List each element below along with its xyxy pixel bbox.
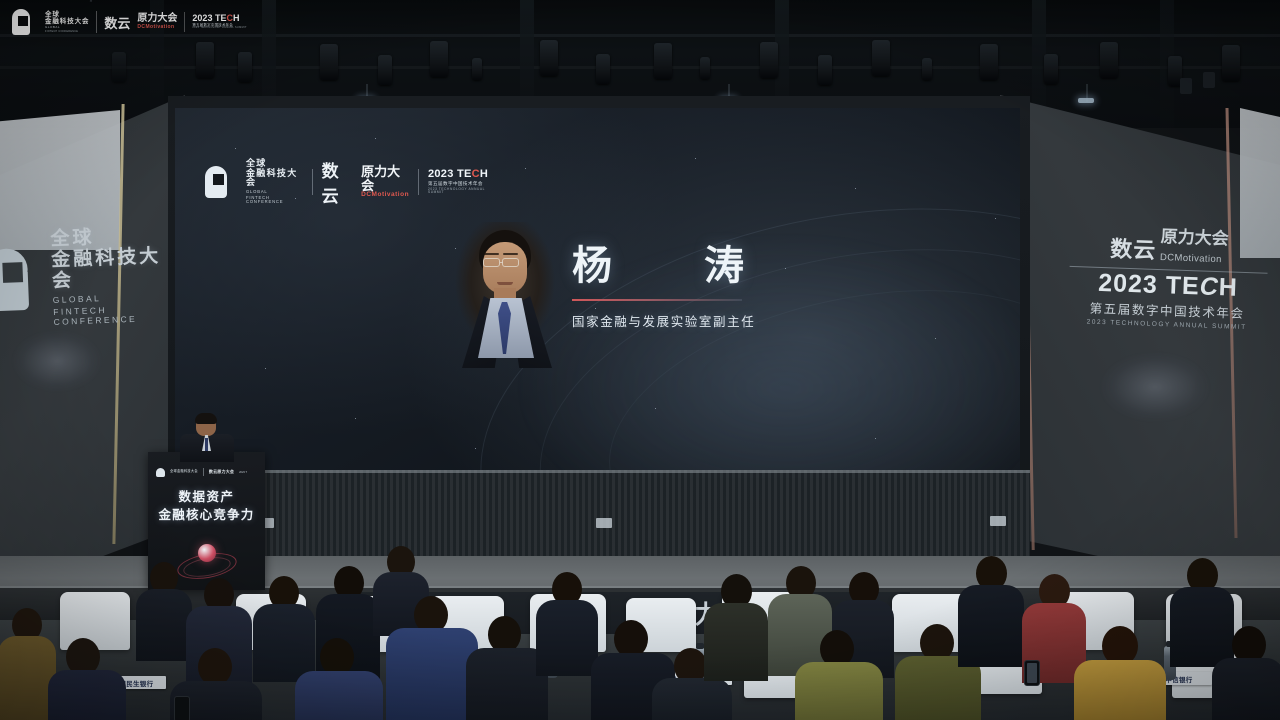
fintech-conference-logo-icon [156,468,165,477]
broadcast-channel-bug: 全球 金融科技大会 GLOBAL FINTECH CONFERENCE 数云 原… [12,6,247,38]
left-wall-branding: 全球 金融科技大会 GLOBAL FINTECH CONFERENCE [0,221,178,332]
led-logo-bar: 全球 金融科技大会 GLOBAL FINTECH CONFERENCE 数云 原… [205,163,495,201]
conference-stage-photo: 全球 金融科技大会 GLOBAL FINTECH CONFERENCE 数云 原… [0,0,1280,720]
nameplate-rule [572,299,742,301]
right-wall-title-en: DCMotivation [1160,252,1222,265]
stage-spotlight [654,43,672,79]
stage-spotlight [700,57,710,79]
led-year-tech: 2023 TECH [428,169,495,181]
fintech-conference-logo-icon [205,166,237,198]
podium-logo-label: 全球金融科技大会 [170,470,198,474]
bug-summit-title-en: DCMotivation [137,25,177,30]
overhead-camera [1203,72,1215,88]
stage-spotlight [1100,42,1118,78]
stage-spotlight [596,54,610,84]
bug-subtitle-en: 2023 TECHNOLOGY ANNUAL SUMMIT [192,27,246,30]
stage-spotlight [378,55,392,85]
audience-member [1216,626,1280,720]
stage-spotlight [196,42,214,78]
bug-conference-cn-line2: 金融科技大会 [45,18,89,25]
led-conference-cn-line2: 金融科技大会 [246,169,303,188]
audience-member [708,574,764,674]
speaker-portrait-on-screen [452,222,558,372]
audience-member [800,630,876,720]
left-wall-subtitle-line1: GLOBAL [53,291,177,305]
stage-spotlight [472,58,482,80]
led-summit-title-en: DCMotivation [361,192,409,199]
audience-member [300,638,376,720]
smartphone [174,696,190,720]
podium-theme-title: 数据资产 金融核心竞争力 [148,488,265,524]
stage-spotlight [980,44,998,80]
stage-spotlight [112,52,126,82]
presenter-at-podium [178,414,236,460]
bug-year-suffix: H [233,13,240,23]
stage-spotlight [1044,54,1058,84]
bug-conference-cn-line1: 全球 [45,11,89,18]
led-logo-divider-2 [418,169,419,195]
bug-divider [96,11,97,33]
led-year-suffix: H [480,168,488,180]
bug-year-prefix: 2023 TE [192,13,226,23]
ceiling-light [1078,98,1094,103]
right-wall-tech-prefix: 2023 TE [1098,269,1200,301]
right-wall-shuyun-label: 数云 [1110,231,1157,265]
audience-member [1080,626,1160,720]
overhead-camera [1180,78,1192,94]
back-wall-rib-top-line [168,470,1030,473]
led-summit-title-cn: 原力大会 [361,165,409,192]
led-conference-en-line2: FINTECH CONFERENCE [246,196,303,205]
wall-galaxy-graphic-left [12,330,102,392]
eyeglasses-icon [483,258,500,267]
audience-area: 中国民生银行 中国进出口银行 中信银行 [0,520,1280,720]
led-year-accent: C [472,168,480,180]
audience-member [52,638,122,720]
left-wall-title-line2: 金融科技大会 [51,245,177,292]
fintech-conference-logo-icon [0,247,45,311]
speaker-nameplate: 杨 涛 国家金融与发展实验室副主任 [572,245,832,330]
audience-member [470,616,542,720]
stage-spotlight [320,44,338,80]
podium-logo-divider [203,468,204,476]
eyeglasses-icon [502,258,519,267]
bug-shuyun-label: 数云 [104,13,130,32]
speaker-title: 国家金融与发展实验室副主任 [572,311,832,330]
bug-divider-2 [184,12,185,32]
audience-member [962,556,1020,660]
stage-spotlight [430,41,448,77]
stage-spotlight [818,55,832,85]
podium-logo-right-sub: 2023 T [239,471,247,474]
right-wall-title-cn: 原力大会 [1160,227,1229,248]
audience-member [540,572,594,670]
fintech-conference-logo-icon [12,8,38,36]
right-wall-tech-suffix: H [1218,273,1238,302]
smartphone [1024,660,1040,686]
audience-member [138,562,190,658]
stage-spotlight [1222,45,1240,81]
stage-spotlight [922,58,932,80]
led-shuyun-label: 数云 [322,157,353,207]
bug-conference-en-line2: FINTECH CONFERENCE [45,31,89,34]
wall-galaxy-graphic-right [1100,352,1210,422]
audience-member [0,608,52,720]
podium-logo-strip: 全球金融科技大会 数云原力大会 2023 T [156,466,258,478]
speaker-name: 杨 涛 [572,245,832,287]
stage-spotlight [872,40,890,76]
stage-spotlight [540,40,558,76]
podium-logo-right-label: 数云原力大会 [209,469,234,475]
audience-member [392,596,470,720]
led-logo-divider [312,169,313,195]
right-wall-branding: 数云 原力大会 DCMotivation 2023 TECH 第五届数字中国技术… [1061,225,1275,344]
led-conference-en-line1: GLOBAL [246,190,303,194]
led-summit-subtitle-en: 2023 TECHNOLOGY ANNUAL SUMMIT [428,188,495,195]
led-year-prefix: 2023 TE [428,168,472,180]
left-wall-subtitle-line2: FINTECH CONFERENCE [53,303,178,327]
stage-spotlight [760,42,778,78]
stage-spotlight [238,52,252,82]
podium-title-line1: 数据资产 [148,488,265,506]
